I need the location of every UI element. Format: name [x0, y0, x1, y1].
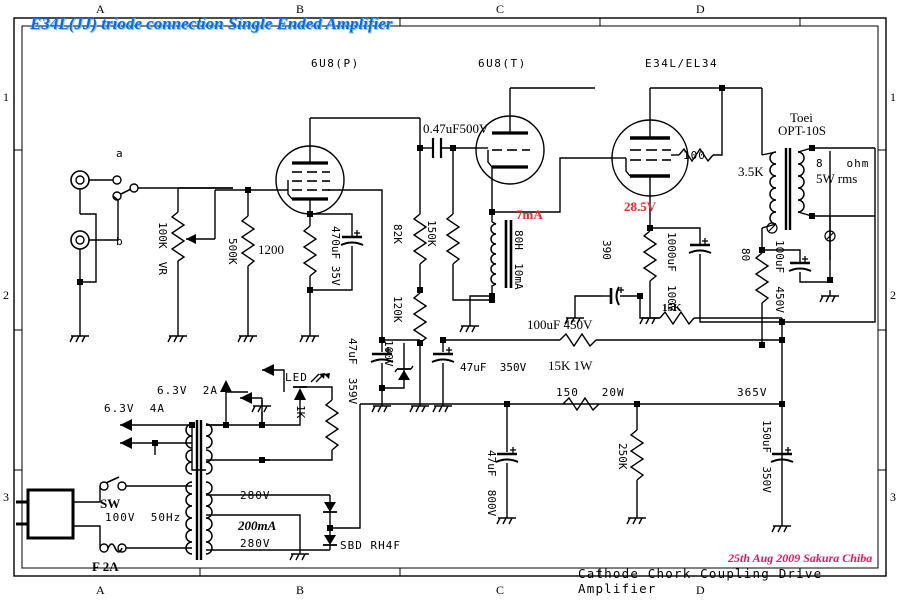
nfb-cap-label: 100uF 450V [774, 240, 785, 313]
page-title: E34L(JJ) triode connection Single Ended … [30, 14, 393, 34]
dropper-resistor-label: 150 20W [556, 387, 625, 398]
choke-current-annotation: 7mA [516, 208, 543, 221]
ht-current-label: 200mA [238, 519, 276, 532]
decouple-cap-label: 47uF 359V [347, 338, 358, 404]
grid-leak-label: 500K [227, 238, 238, 265]
drawing-caption: Cathode Chork Coupling Drive Amplifier [578, 566, 900, 596]
tube-label-v2: 6U8(T) [478, 58, 527, 69]
signature: 25th Aug 2009 Sakura Chiba [728, 551, 872, 566]
border-row-3: 3 [3, 490, 9, 505]
zener-label: 100V [383, 340, 394, 367]
bleeder-resistor-label: 250K [617, 443, 628, 470]
heater-1-label: 6.3V 2A [157, 385, 218, 396]
smoothing-cap-label: 150uF 350V [761, 420, 772, 493]
series-resistor-label: 15K 1W [548, 359, 592, 372]
tube-label-v3: E34L/EL34 [645, 58, 718, 69]
rail-voltage-label: 365V [737, 387, 768, 398]
input-jack-a-label: a [116, 148, 123, 159]
input-jack-b-label: b [116, 236, 123, 247]
reservoir-cap-label: 47uF 800V [486, 450, 497, 516]
choke-label: 80H 10mA [513, 230, 524, 290]
led-label: LED [285, 372, 308, 383]
screen-supply-cap-label: 100uF 450V [527, 318, 592, 331]
border-row-2-right: 2 [890, 288, 896, 303]
cathode-resistor-v3-label: 390 [601, 240, 612, 260]
ht-winding-top-label: 280V [240, 490, 271, 501]
grid-resistor-label: 150K [426, 220, 437, 247]
schematic-sheet: A B C D A B C D 1 2 3 1 2 3 E34L(JJ) tri… [0, 0, 900, 600]
border-row-2: 2 [3, 288, 9, 303]
divider-top-label: 82K [392, 224, 403, 244]
heater-2-label: 6.3V 4A [104, 403, 165, 414]
border-row-1-right: 1 [890, 90, 896, 105]
power-switch-label: SW [100, 497, 120, 510]
led-resistor-label: 1K [295, 405, 306, 418]
coupling-cap-label: 0.47uF500V [423, 122, 488, 135]
border-col-c: C [496, 2, 504, 17]
border-col-c-bottom: C [496, 583, 504, 598]
volume-pot-label: 100K VR [157, 222, 168, 275]
opt-secondary-z-label: 8 ohm [816, 158, 869, 169]
opt-secondary-power-label: 5W rms [816, 172, 857, 185]
tube-label-v1: 6U8(P) [311, 58, 360, 69]
schematic-drawing [0, 0, 900, 600]
screen-resistor-label: 100 [683, 150, 706, 161]
fuse-label: F 2A [92, 560, 119, 573]
rectifier-label: SBD RH4F [340, 540, 401, 551]
border-row-3-right: 3 [890, 490, 896, 505]
opt-model-label: OPT-10S [778, 124, 826, 137]
cathode-bias-annotation: 28.5V [624, 200, 656, 213]
cathode-cap-label: 470uF 35V [330, 226, 341, 286]
opt-primary-label: 3.5K [738, 165, 764, 178]
cathode-resistor-label: 1200 [258, 243, 284, 256]
ht-winding-bottom-label: 280V [240, 538, 271, 549]
cathode-cap-v3-label: 1000uF 100V [666, 232, 677, 311]
coupling-cap2-label: 47uF 350V [460, 362, 526, 373]
mains-label: 100V 50Hz [105, 512, 181, 523]
border-col-b-bottom: B [296, 583, 304, 598]
nfb-resistor-label: 80 [740, 248, 751, 261]
border-col-a-bottom: A [96, 583, 105, 598]
border-row-1: 1 [3, 90, 9, 105]
divider-bottom-label: 120K [392, 296, 403, 323]
border-col-d: D [696, 2, 705, 17]
